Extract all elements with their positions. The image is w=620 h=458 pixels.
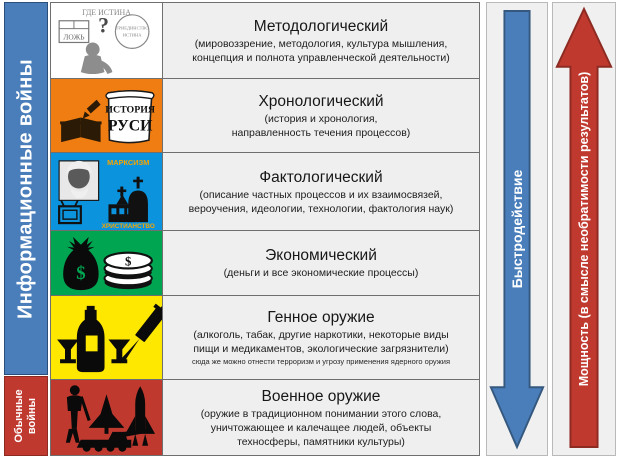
cell-text-genetic-weapon: Генное оружие (алкоголь, табак, другие н… (163, 296, 479, 379)
priority-title: Военное оружие (262, 387, 381, 406)
axis-ordinary-wars: Обычные войны (4, 376, 48, 456)
svg-text:ИСТОРИЯ: ИСТОРИЯ (105, 105, 155, 116)
alcohol-bottle-syringe-icon-svg (51, 296, 162, 379)
soldier-tank-missile-jet-icon (51, 380, 163, 455)
svg-text:ИСТИНА: ИСТИНА (123, 33, 143, 38)
money-bag-coins-icon: $ $ (51, 231, 163, 295)
truth-lie-question-icon-svg: ГДЕ ИСТИНА ЛОЖЬ ТРИЕДИНСТВО ИСТИНА ? (51, 3, 162, 78)
svg-text:$: $ (76, 263, 85, 284)
priority-of-generalized-management-tools-diagram: Информационные войны Обычные войны ГДЕ И… (0, 0, 620, 458)
priority-desc-line1: (мировоззрение, методология, культура мы… (195, 37, 448, 51)
svg-text:ЛОЖЬ: ЛОЖЬ (63, 33, 84, 42)
axis-ordinary-wars-label-line1: Обычные (13, 389, 26, 442)
svg-text:МАРКСИЗМ: МАРКСИЗМ (107, 158, 149, 167)
axis-information-wars-label: Информационные войны (15, 59, 38, 319)
money-bag-coins-icon-svg: $ $ (51, 231, 162, 295)
priority-desc-line2: концепция и полнота управленческой деяте… (192, 51, 449, 65)
history-scroll-book-icon-svg: ИСТОРИЯ РУСИ (51, 79, 162, 152)
cell-text-methodological: Методологический (мировоззрение, методол… (163, 3, 479, 78)
arrow-power-label: Мощность (в смысле необратимости результ… (577, 72, 591, 387)
marxism-ideology-media-icon-svg: МАРКСИЗМ (51, 153, 162, 230)
svg-text:РУСИ: РУСИ (108, 117, 152, 134)
axis-ordinary-wars-lines: Обычные войны (13, 389, 39, 442)
soldier-tank-missile-jet-icon-svg (51, 380, 162, 455)
priority-desc-line1: (история и хронология, (265, 112, 378, 126)
priority-desc-line2: уничтожающее и калечащее людей, объекты (211, 421, 432, 435)
table-row-economic: $ $ Экономический (деньги и все экономич… (51, 231, 479, 296)
svg-text:?: ? (98, 14, 109, 38)
svg-text:$: $ (125, 254, 132, 268)
priority-title: Экономический (265, 246, 377, 265)
priority-title: Методологический (254, 17, 388, 36)
truth-lie-question-icon: ГДЕ ИСТИНА ЛОЖЬ ТРИЕДИНСТВО ИСТИНА ? (51, 3, 163, 78)
cell-text-chronological: Хронологический (история и хронология, н… (163, 79, 479, 152)
table-row-methodological: ГДЕ ИСТИНА ЛОЖЬ ТРИЕДИНСТВО ИСТИНА ? (51, 3, 479, 79)
priority-title: Фактологический (259, 168, 382, 187)
arrow-speed-label: Быстродействие (509, 170, 525, 289)
priority-desc-line1: (деньги и все экономические процессы) (224, 266, 419, 280)
history-scroll-book-icon: ИСТОРИЯ РУСИ (51, 79, 163, 152)
svg-text:ТРИЕДИНСТВО: ТРИЕДИНСТВО (116, 26, 150, 31)
arrow-speed: Быстродействие (486, 2, 548, 456)
cell-text-factological: Фактологический (описание частных процес… (163, 153, 479, 230)
priority-desc-line1: (оружие в традиционном понимании этого с… (201, 407, 442, 421)
priority-desc-line1: (алкоголь, табак, другие наркотики, неко… (193, 328, 448, 342)
priority-desc-line1: (описание частных процессов и их взаимос… (200, 188, 443, 202)
table-row-factological: МАРКСИЗМ (51, 153, 479, 231)
cell-text-economic: Экономический (деньги и все экономически… (163, 231, 479, 295)
table-row-military-weapon: Военное оружие (оружие в традиционном по… (51, 380, 479, 455)
axis-ordinary-wars-label-line2: войны (26, 398, 39, 434)
table-row-chronological: ИСТОРИЯ РУСИ Хронологический (история и … (51, 79, 479, 153)
priority-desc-line2: направленность течения процессов) (232, 126, 411, 140)
marxism-ideology-media-icon: МАРКСИЗМ (51, 153, 163, 230)
priority-title: Генное оружие (267, 308, 374, 327)
priority-desc-line2: пищи и медикаментов, экологические загря… (193, 342, 448, 356)
axis-information-wars: Информационные войны (4, 2, 48, 375)
priority-note: сюда же можно отнести терроризм и угрозу… (192, 357, 450, 367)
cell-text-military-weapon: Военное оружие (оружие в традиционном по… (163, 380, 479, 455)
priority-desc-line3: техносферы, памятники культуры) (237, 435, 405, 449)
priority-desc-line2: вероучения, идеологии, технологии, факто… (189, 202, 454, 216)
table-row-genetic-weapon: Генное оружие (алкоголь, табак, другие н… (51, 296, 479, 380)
arrow-power: Мощность (в смысле необратимости результ… (552, 2, 616, 456)
svg-text:ХРИСТИАНСТВО: ХРИСТИАНСТВО (102, 223, 155, 230)
alcohol-bottle-syringe-icon (51, 296, 163, 379)
priority-title: Хронологический (258, 92, 383, 111)
priorities-table: ГДЕ ИСТИНА ЛОЖЬ ТРИЕДИНСТВО ИСТИНА ? (50, 2, 480, 456)
